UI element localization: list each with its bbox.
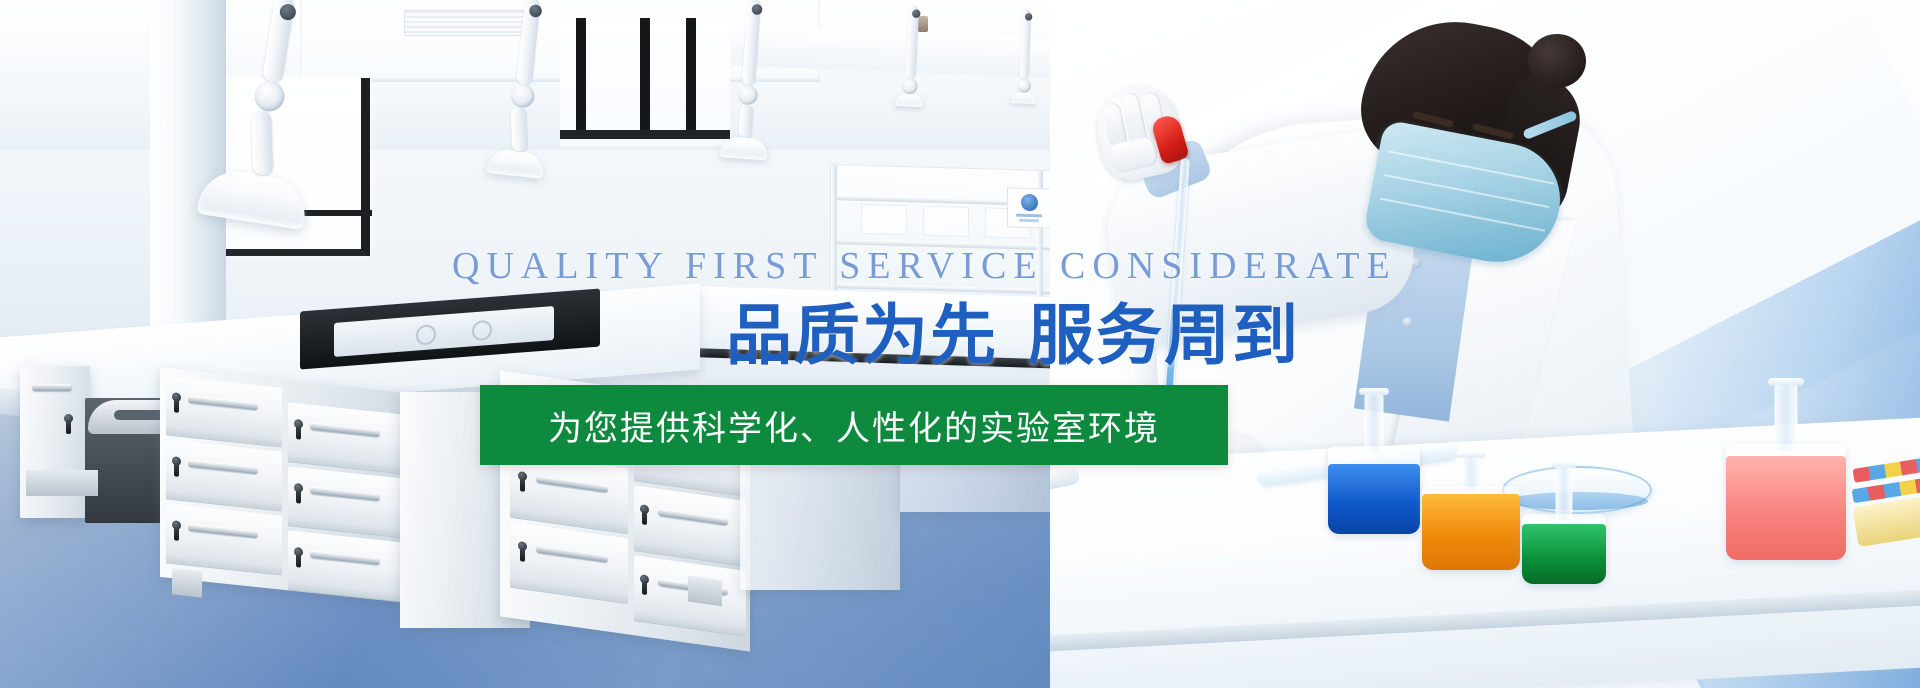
hero-banner: QUALITY FIRST SERVICE CONSIDERATE 品质为先服务…	[0, 0, 1920, 688]
banner-copy: QUALITY FIRST SERVICE CONSIDERATE 品质为先服务…	[0, 0, 1920, 688]
headline-part-2: 服务周到	[1028, 297, 1300, 374]
subtitle-text: 为您提供科学化、人性化的实验室环境	[548, 401, 1160, 450]
headline: 品质为先服务周到	[726, 300, 1300, 371]
tagline-english: QUALITY FIRST SERVICE CONSIDERATE	[452, 244, 1397, 288]
headline-part-1: 品质为先	[726, 297, 998, 374]
subtitle-green-bar: 为您提供科学化、人性化的实验室环境	[480, 385, 1228, 465]
